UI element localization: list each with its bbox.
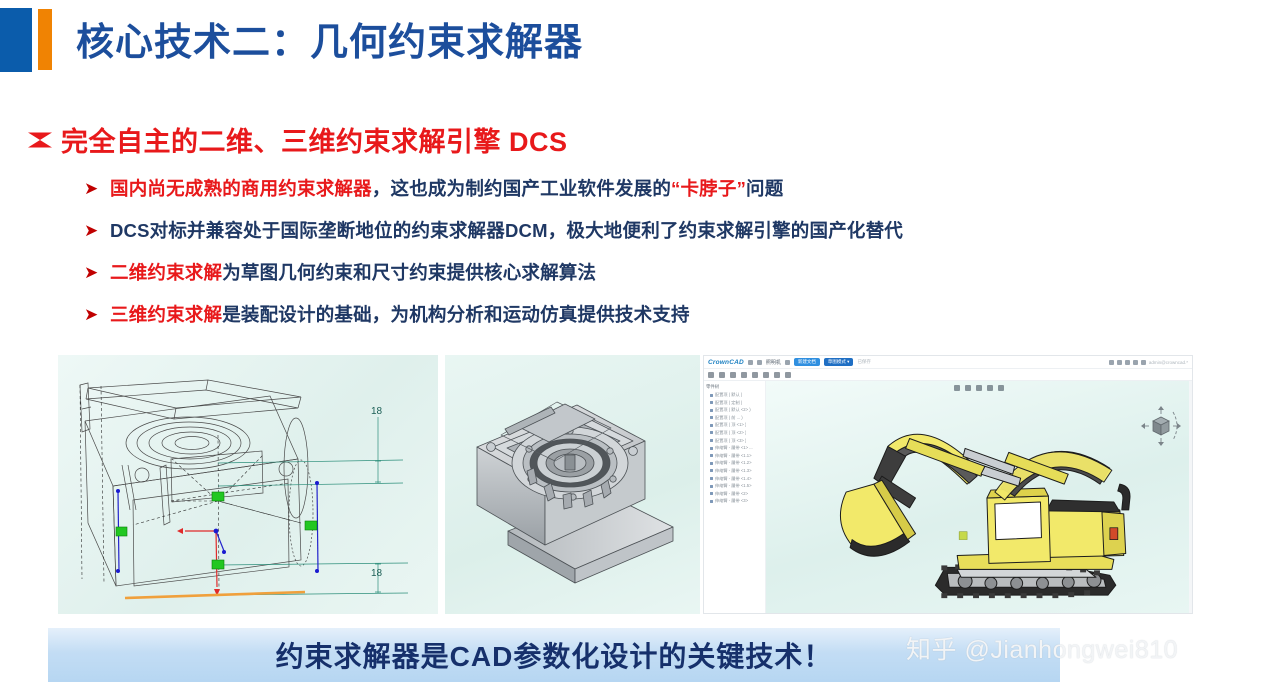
list-item[interactable]: 伸缩臂 - 履带 <1.3> xyxy=(710,468,763,474)
slide-root: 核心技术二：几何约束求解器 完全自主的二维、三维约束求解引擎 DCS ➤ 国内尚… xyxy=(0,0,1279,699)
gear-icon[interactable] xyxy=(757,360,762,365)
file-icon[interactable] xyxy=(748,360,753,365)
node-icon xyxy=(710,447,713,450)
sketch-mode-chip[interactable]: 草图模式 ▾ xyxy=(824,358,854,366)
arrow-bullet-icon: ➤ xyxy=(84,178,110,200)
level2-bullet-list: ➤ 国内尚无成熟的商用约束求解器，这也成为制约国产工业软件发展的“卡脖子”问题 … xyxy=(84,178,1244,346)
list-item[interactable]: 伸缩臂 - 履带 <1.5> xyxy=(710,483,763,489)
conclusion-banner: 约束求解器是CAD参数化设计的关键技术！ xyxy=(48,628,1060,682)
arrow-bullet-icon: ➤ xyxy=(84,262,110,284)
diamond-bullet-icon xyxy=(28,132,52,147)
app-toolbar xyxy=(704,369,1192,381)
list-item[interactable]: 配置项 ( 定制 ) xyxy=(710,400,763,406)
level1-bullet-row: 完全自主的二维、三维约束求解引擎 DCS xyxy=(28,120,568,159)
view-cube-navigation-widget[interactable] xyxy=(1138,403,1184,449)
model-viewport[interactable] xyxy=(766,381,1192,613)
undo-icon[interactable] xyxy=(785,360,790,365)
gearbox-housing-drawing xyxy=(445,355,700,614)
measure-icon[interactable] xyxy=(785,372,791,378)
help-icon[interactable] xyxy=(1117,360,1122,365)
redo-arrow-icon[interactable] xyxy=(719,372,725,378)
level2-bullet-text: 三维约束求解是装配设计的基础，为机构分析和运动仿真提供技术支持 xyxy=(110,304,690,326)
list-item[interactable]: 伸缩臂 - 履带 <3> xyxy=(710,498,763,504)
document-name-label: 照明机 xyxy=(766,359,781,366)
node-icon xyxy=(710,409,713,412)
level2-bullet-text: DCS对标并兼容处于国际垄断地位的约束求解器DCM，极大地便利了约束求解引擎的国… xyxy=(110,220,903,242)
list-item[interactable]: 配置项 ( 默认 <2> ) xyxy=(710,407,763,413)
undo-arrow-icon[interactable] xyxy=(708,372,714,378)
list-item[interactable]: 伸缩臂 - 履带 <1.4> xyxy=(710,476,763,482)
list-item[interactable]: 配置项 ( 默认 ) xyxy=(710,392,763,398)
topbar-right-cluster: admin@crowncad.* xyxy=(1109,360,1188,365)
node-icon xyxy=(710,424,713,427)
title-accent-bar-orange xyxy=(38,9,52,70)
list-item: ➤ 国内尚无成熟的商用约束求解器，这也成为制约国产工业软件发展的“卡脖子”问题 xyxy=(84,178,1244,220)
page-title: 核心技术二：几何约束求解器 xyxy=(76,11,583,66)
crowncad-logo[interactable]: CrownCAD xyxy=(708,359,744,366)
node-icon xyxy=(710,394,713,397)
grid-icon[interactable] xyxy=(1109,360,1114,365)
list-item[interactable]: 伸缩臂 - 履带 <1> ... xyxy=(710,445,763,451)
feature-tree-root-label: 零件树 xyxy=(706,384,763,390)
saved-status-label: 已保存 xyxy=(857,359,871,365)
move-icon[interactable] xyxy=(763,372,769,378)
cad-app-figure-panel: CrownCAD 照明机 新建文档 草图模式 ▾ 已保存 admin@crow xyxy=(445,355,1193,614)
crowncad-application-window: CrownCAD 照明机 新建文档 草图模式 ▾ 已保存 admin@crow xyxy=(703,355,1193,614)
node-icon xyxy=(710,454,713,457)
list-item: ➤ 二维约束求解为草图几何约束和尺寸约束提供核心求解算法 xyxy=(84,262,1244,304)
arrow-bullet-icon: ➤ xyxy=(84,304,110,326)
new-document-chip[interactable]: 新建文档 xyxy=(794,358,820,366)
yellow-excavator-3d-model xyxy=(766,381,1192,613)
copy-icon[interactable] xyxy=(730,372,736,378)
node-icon xyxy=(710,469,713,472)
feature-tree-panel[interactable]: 零件树 配置项 ( 默认 ) 配置项 ( 定制 ) 配置项 ( 默认 <2> )… xyxy=(704,381,766,613)
level1-bullet-text: 完全自主的二维、三维约束求解引擎 DCS xyxy=(61,120,568,159)
list-item[interactable]: 配置项 ( 顶 <1> ) xyxy=(710,422,763,428)
gearbox-housing-3d-model xyxy=(445,355,700,614)
title-accent-bar-blue xyxy=(0,8,32,72)
pause-icon[interactable] xyxy=(741,372,747,378)
rotate-icon[interactable] xyxy=(774,372,780,378)
app-topbar: CrownCAD 照明机 新建文档 草图模式 ▾ 已保存 admin@crow xyxy=(704,356,1192,369)
node-icon xyxy=(710,462,713,465)
level2-bullet-text: 二维约束求解为草图几何约束和尺寸约束提供核心求解算法 xyxy=(110,262,596,284)
share-icon[interactable] xyxy=(1133,360,1138,365)
grid-view-icon[interactable] xyxy=(752,372,758,378)
cloud-icon[interactable] xyxy=(1125,360,1130,365)
list-item[interactable]: 配置项 ( 前 ... ) xyxy=(710,415,763,421)
node-icon xyxy=(710,416,713,419)
avatar[interactable] xyxy=(1141,360,1146,365)
node-icon xyxy=(710,492,713,495)
node-icon xyxy=(710,485,713,488)
viewport-scrollbar[interactable] xyxy=(1189,381,1192,613)
figure-strip: 18 18 xyxy=(58,355,1193,614)
list-item[interactable]: 伸缩臂 - 履带 <1.2> xyxy=(710,460,763,466)
node-icon xyxy=(710,401,713,404)
list-item: ➤ DCS对标并兼容处于国际垄断地位的约束求解器DCM，极大地便利了约束求解引擎… xyxy=(84,220,1244,262)
node-icon xyxy=(710,477,713,480)
list-item[interactable]: 伸缩臂 - 履带 <2> xyxy=(710,491,763,497)
list-item[interactable]: 配置项 ( 顶 <3> ) xyxy=(710,438,763,444)
conclusion-banner-text: 约束求解器是CAD参数化设计的关键技术！ xyxy=(276,635,833,675)
level2-bullet-text: 国内尚无成熟的商用约束求解器，这也成为制约国产工业软件发展的“卡脖子”问题 xyxy=(110,178,783,200)
dimension-label-lower: 18 xyxy=(371,568,382,579)
account-label: admin@crowncad.* xyxy=(1149,360,1188,365)
node-icon xyxy=(710,500,713,503)
list-item[interactable]: 配置项 ( 顶 <2> ) xyxy=(710,430,763,436)
node-icon xyxy=(710,431,713,434)
arrow-bullet-icon: ➤ xyxy=(84,220,110,242)
app-body: 零件树 配置项 ( 默认 ) 配置项 ( 定制 ) 配置项 ( 默认 <2> )… xyxy=(704,381,1192,613)
cad-wireframe-panel: 18 18 xyxy=(58,355,438,614)
dimension-label-upper: 18 xyxy=(371,406,382,417)
list-item: ➤ 三维约束求解是装配设计的基础，为机构分析和运动仿真提供技术支持 xyxy=(84,304,1244,346)
list-item[interactable]: 伸缩臂 - 履带 <1.1> xyxy=(710,453,763,459)
node-icon xyxy=(710,439,713,442)
